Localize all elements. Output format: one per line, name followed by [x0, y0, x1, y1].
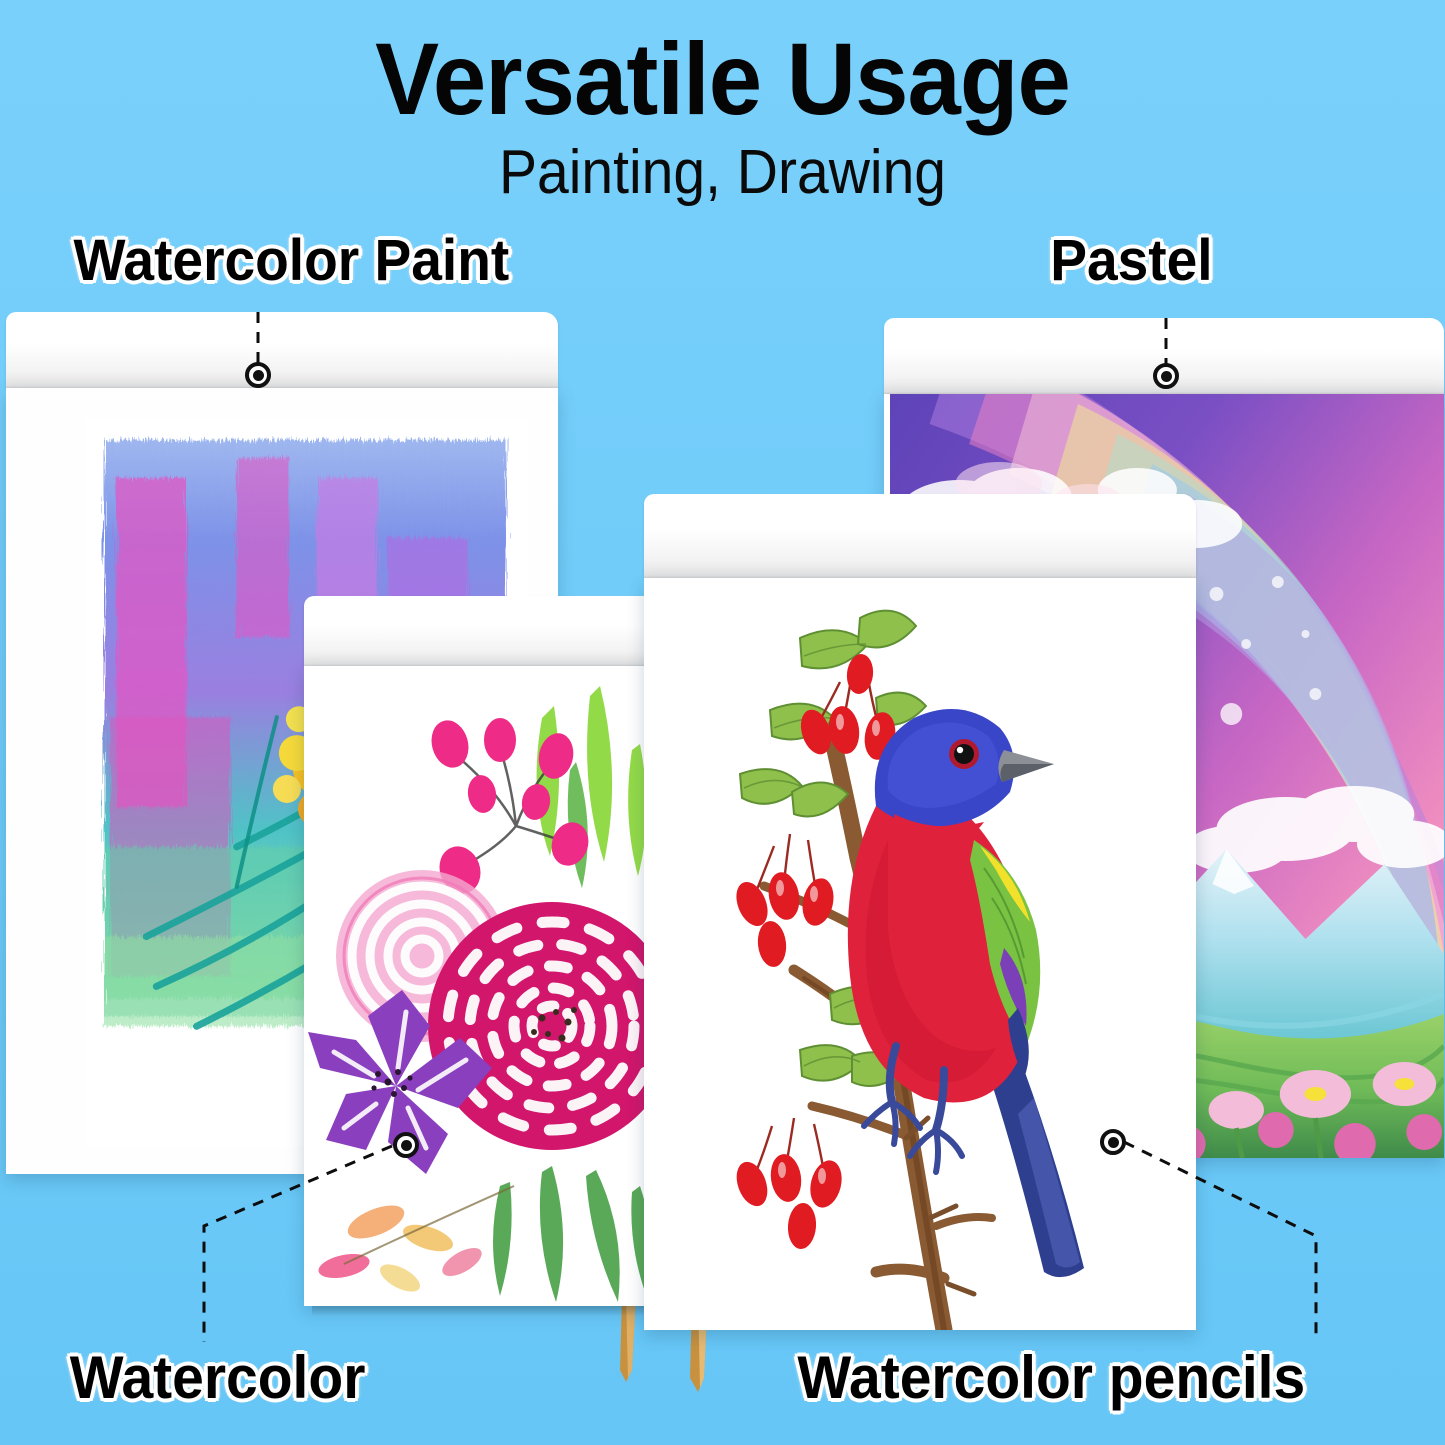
callout-dot-pastel[interactable] [1153, 363, 1179, 389]
pad-sheet [304, 666, 690, 1306]
page-title: Versatile Usage [43, 28, 1401, 130]
pad-top-curl [644, 494, 1196, 578]
pad-sheet [644, 578, 1196, 1330]
callout-dot-watercolor-paint[interactable] [245, 362, 271, 388]
page-subtitle: Painting, Drawing [58, 142, 1387, 204]
pad-watercolor [304, 596, 690, 1306]
callout-dot-watercolor[interactable] [393, 1132, 419, 1158]
callout-label-watercolor-paint: Watercolor Paint [73, 232, 509, 290]
callout-label-watercolor: Watercolor [70, 1348, 366, 1408]
callout-dot-watercolor-pencils[interactable] [1100, 1129, 1126, 1155]
callout-label-pastel: Pastel [1050, 232, 1212, 290]
artwork-svg-bird [644, 578, 1196, 1330]
pad-top-curl [6, 312, 558, 388]
poster-canvas: Versatile Usage Painting, Drawing Waterc… [0, 0, 1445, 1445]
artwork-svg-watercolor [304, 666, 690, 1306]
pad-watercolor-pencils [644, 494, 1196, 1330]
artwork-watercolor [304, 666, 690, 1306]
artwork-bird [644, 578, 1196, 1330]
pad-top-curl [304, 596, 690, 666]
pad-drop-shadow [312, 1306, 694, 1316]
callout-label-watercolor-pencils: Watercolor pencils [797, 1348, 1305, 1408]
